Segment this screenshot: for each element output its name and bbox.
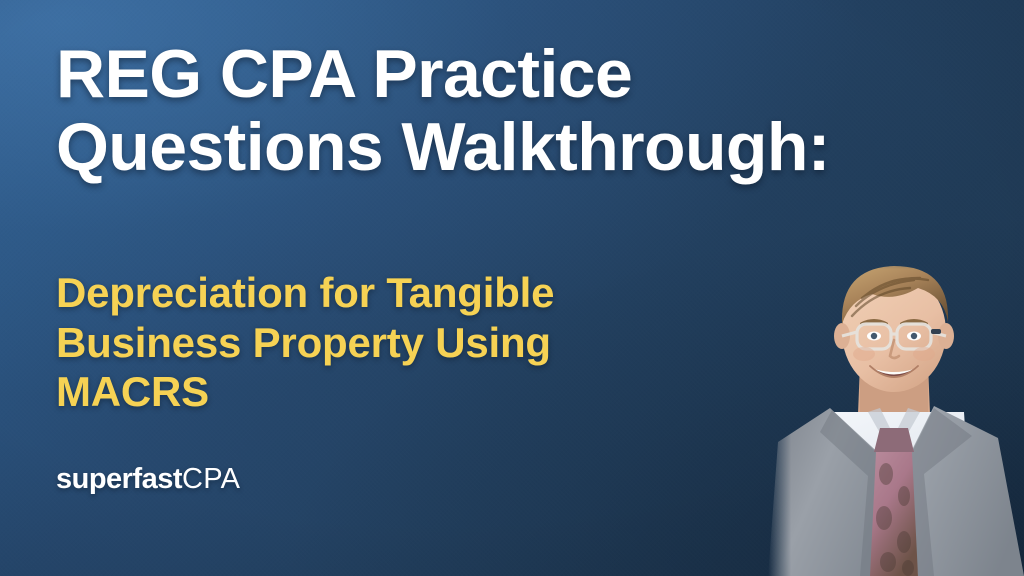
title-line-1: REG CPA Practice xyxy=(56,38,966,111)
presenter-portrait-fade xyxy=(768,246,1024,576)
subtitle-line-2: Business Property Using xyxy=(56,318,756,368)
brand-logo-bold: superfast xyxy=(56,463,182,495)
page-subtitle: Depreciation for Tangible Business Prope… xyxy=(56,268,756,417)
page-title: REG CPA Practice Questions Walkthrough: xyxy=(56,38,966,184)
subtitle-line-1: Depreciation for Tangible xyxy=(56,268,756,318)
brand-logo-light: CPA xyxy=(182,463,240,495)
thumbnail-slide: REG CPA Practice Questions Walkthrough: … xyxy=(0,0,1024,576)
title-line-2: Questions Walkthrough: xyxy=(56,111,966,184)
presenter-portrait xyxy=(768,246,1024,576)
brand-logo: superfastCPA xyxy=(56,465,240,494)
subtitle-line-3: MACRS xyxy=(56,367,756,417)
